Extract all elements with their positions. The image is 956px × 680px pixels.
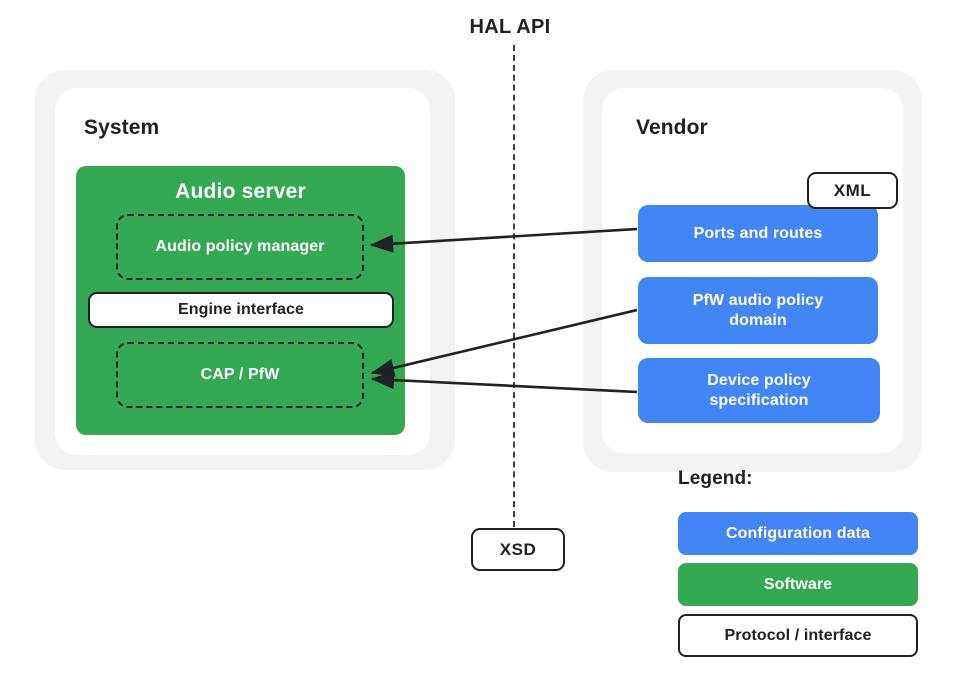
legend-item-protocol-interface: Protocol / interface (678, 614, 918, 657)
vendor-block-pfw-label: PfW audio policydomain (693, 291, 824, 331)
hal-api-label: HAL API (400, 16, 620, 39)
vendor-block-pfw-audio-policy-domain: PfW audio policydomain (638, 277, 878, 344)
xml-badge: XML (807, 172, 898, 209)
vendor-block-device-label: Device policyspecification (707, 371, 811, 411)
vendor-block-ports-and-routes: Ports and routes (638, 205, 878, 262)
legend-item-software: Software (678, 563, 918, 606)
legend-title: Legend: (678, 468, 753, 490)
legend-item-configuration-data: Configuration data (678, 512, 918, 555)
vendor-block-device-policy-specification: Device policyspecification (638, 358, 880, 423)
diagram-canvas: HAL API System Audio server Audio policy… (0, 0, 956, 680)
xsd-badge: XSD (471, 528, 565, 571)
cap-pfw-block: CAP / PfW (116, 342, 364, 408)
system-title: System (84, 116, 159, 140)
hal-api-divider-line (513, 45, 515, 527)
audio-server-title: Audio server (76, 180, 405, 204)
vendor-title: Vendor (636, 116, 708, 140)
engine-interface-block: Engine interface (88, 292, 394, 328)
audio-policy-manager-block: Audio policy manager (116, 214, 364, 280)
